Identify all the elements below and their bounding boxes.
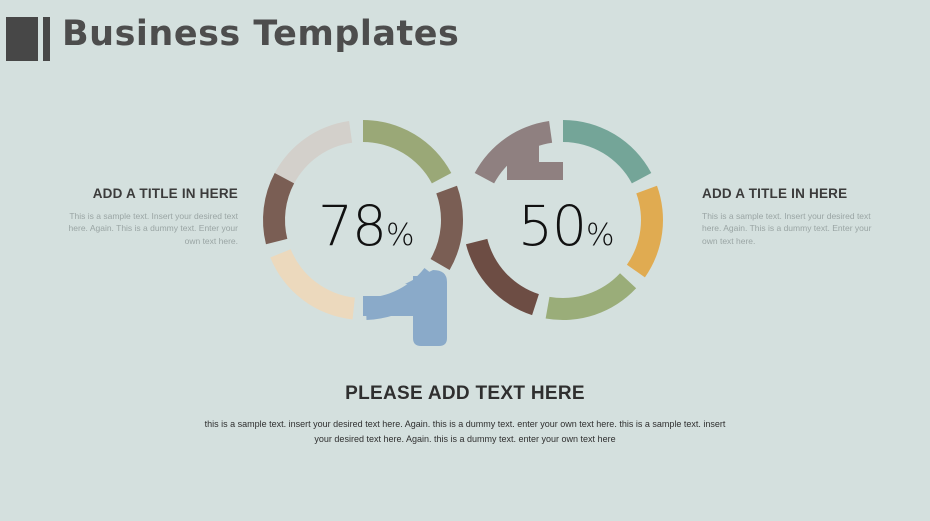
right-donut-arrow-head-icon [507, 140, 563, 180]
right-text-panel: ADD A TITLE IN HERE This is a sample tex… [702, 186, 880, 247]
left-donut-center-label: 78% [318, 194, 415, 258]
donut-segment-olive-green[interactable] [363, 120, 451, 183]
donut-segment-cream[interactable] [270, 249, 355, 319]
donut-segment-teal[interactable] [563, 120, 651, 183]
infographic-donut-pair: 78% 50% [245, 100, 695, 360]
donut-segment-gold[interactable] [627, 186, 663, 278]
page-title: Business Templates [62, 14, 459, 54]
bottom-panel-body: this is a sample text. insert your desir… [200, 417, 730, 448]
donut-chart-svg [245, 100, 695, 360]
left-donut-percent-sign: % [386, 218, 415, 253]
header-mark-square-icon [6, 17, 38, 61]
right-panel-title: ADD A TITLE IN HERE [702, 186, 880, 201]
right-donut-percent-sign: % [586, 218, 615, 253]
left-panel-title: ADD A TITLE IN HERE [60, 186, 238, 201]
right-panel-body: This is a sample text. Insert your desir… [702, 210, 880, 247]
page-header: Business Templates [0, 0, 930, 80]
bottom-panel-title: PLEASE ADD TEXT HERE [165, 383, 765, 405]
header-mark-bar-icon [43, 17, 50, 61]
right-donut-center-label: 50% [518, 194, 615, 258]
left-donut-value: 78 [318, 194, 386, 258]
donut-segment-light-gray[interactable] [275, 121, 352, 183]
donut-segment-brown[interactable] [431, 186, 463, 270]
donut-segment-olive-green[interactable] [546, 273, 637, 320]
left-panel-body: This is a sample text. Insert your desir… [60, 210, 238, 247]
left-text-panel: ADD A TITLE IN HERE This is a sample tex… [60, 186, 238, 247]
right-donut-value: 50 [518, 194, 586, 258]
donut-segment-dark-brown[interactable] [263, 173, 294, 244]
bottom-text-panel: PLEASE ADD TEXT HERE this is a sample te… [165, 383, 765, 448]
